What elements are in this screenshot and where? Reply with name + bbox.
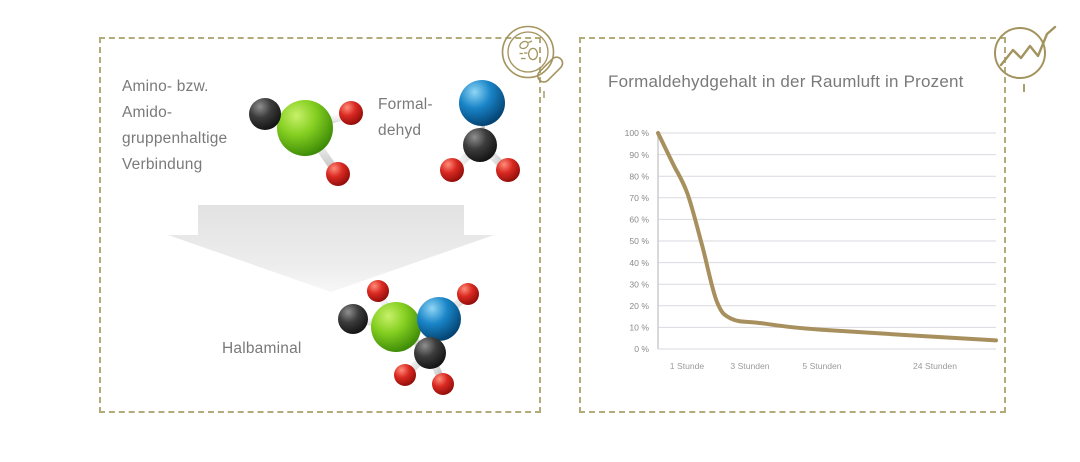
y-tick-label: 0 % xyxy=(634,344,649,354)
chart-x-axis-labels: 1 Stunde3 Stunden5 Stunden24 Stunden xyxy=(670,361,957,371)
y-tick-label: 90 % xyxy=(629,150,649,160)
y-tick-label: 100 % xyxy=(625,128,650,138)
x-tick-label: 5 Stunden xyxy=(802,361,841,371)
x-tick-label: 24 Stunden xyxy=(913,361,957,371)
chart-series-line xyxy=(658,133,996,340)
line-chart: 100 %90 %80 %70 %60 %50 %40 %30 %20 %10 … xyxy=(600,125,1000,375)
molecule-halbaminal xyxy=(326,274,502,400)
chart-title: Formaldehydgehalt in der Raumluft in Pro… xyxy=(608,72,964,92)
chart-y-axis-labels: 100 %90 %80 %70 %60 %50 %40 %30 %20 %10 … xyxy=(625,128,650,354)
y-tick-label: 40 % xyxy=(629,258,649,268)
y-tick-label: 10 % xyxy=(629,323,649,333)
y-tick-label: 30 % xyxy=(629,279,649,289)
x-tick-label: 3 Stunden xyxy=(730,361,769,371)
y-tick-label: 60 % xyxy=(629,215,649,225)
screenshot-root: Amino- bzw. Amido- gruppenhaltige Verbin… xyxy=(0,0,1080,462)
x-tick-label: 1 Stunde xyxy=(670,361,705,371)
molecule-amino-compound xyxy=(243,82,373,194)
chart-gridlines xyxy=(658,133,996,349)
y-tick-label: 70 % xyxy=(629,193,649,203)
trend-circle-icon xyxy=(988,22,1062,96)
y-tick-label: 50 % xyxy=(629,236,649,246)
y-tick-label: 20 % xyxy=(629,301,649,311)
molecule-formaldehyde xyxy=(434,72,530,188)
y-tick-label: 80 % xyxy=(629,171,649,181)
